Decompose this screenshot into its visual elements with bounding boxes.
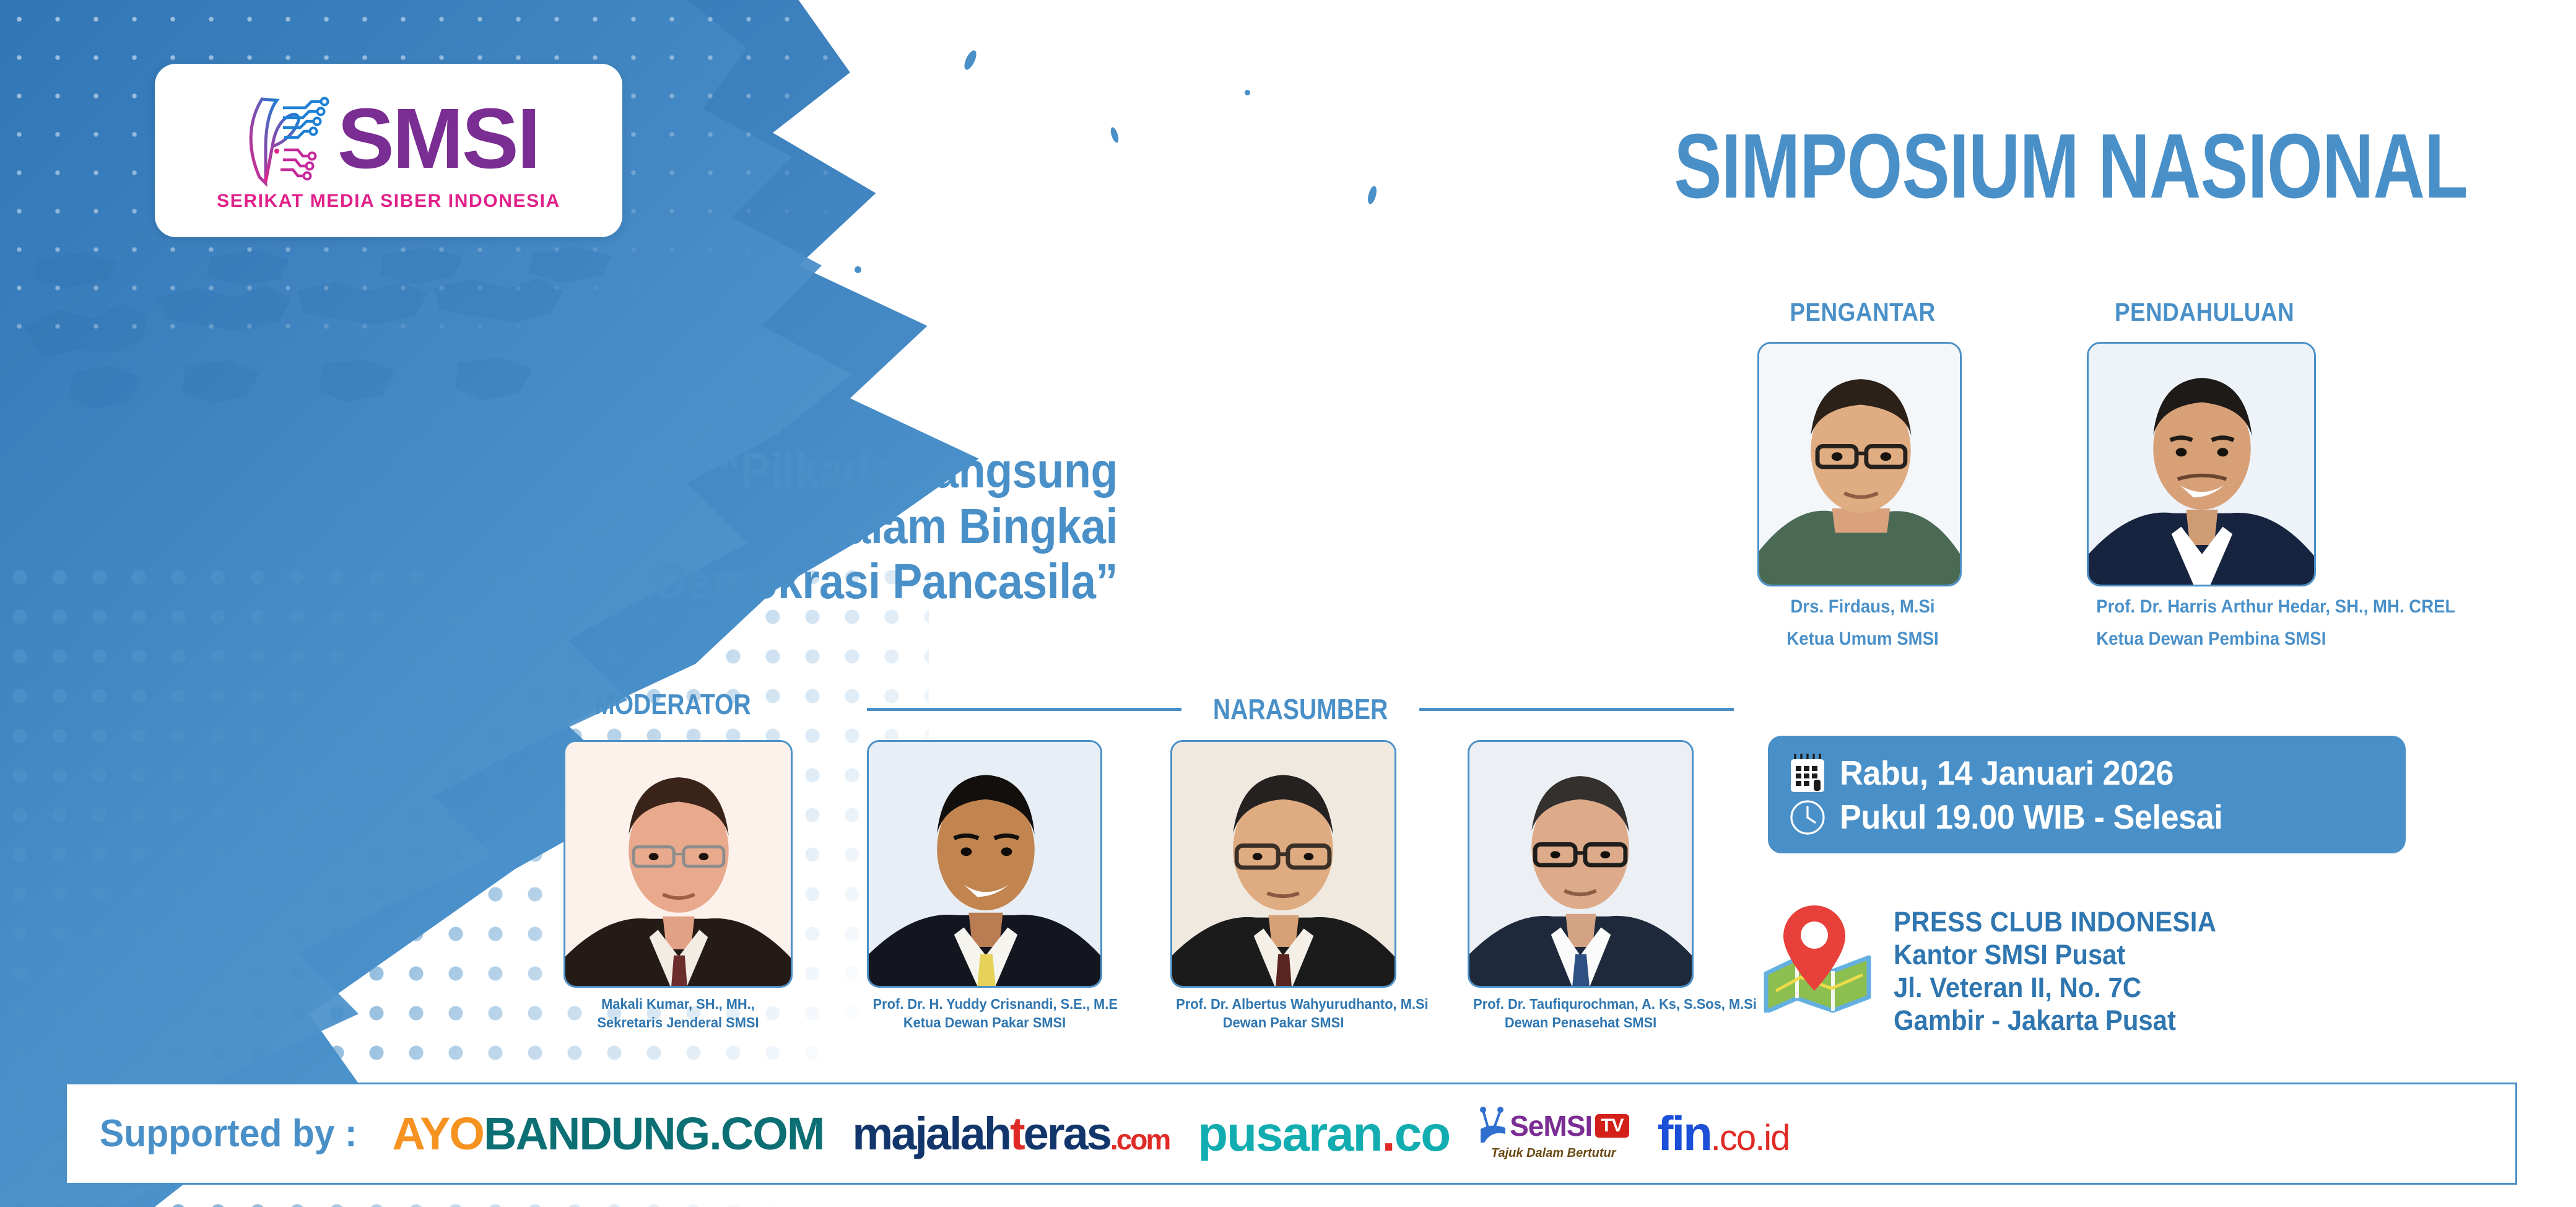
ayo-part-1: AYO xyxy=(392,1107,484,1160)
schedule-box: Rabu, 14 Januari 2026 Pukul 19.00 WIB - … xyxy=(1768,736,2406,853)
speaker-name-pengantar: Drs. Firdaus, M.Si xyxy=(1766,595,1960,619)
supported-by-label: Supported by : xyxy=(100,1112,357,1156)
speaker-narasumber-1: Prof. Dr. H. Yuddy Crisnandi, S.E., M.E … xyxy=(867,740,1102,1032)
sponsor-logo-majalahteras[interactable]: majalahteras.com xyxy=(852,1107,1169,1160)
section-label-narasumber-group: NARASUMBER xyxy=(867,692,1734,726)
sponsor-logo-ayobandung[interactable]: AYOBANDUNG.COM xyxy=(392,1107,824,1160)
event-poster: SMSI SERIKAT MEDIA SIBER INDONESIA SIMPO… xyxy=(0,0,2576,1207)
speaker-title-1: Ketua Dewan Pakar SMSI xyxy=(873,1014,1097,1032)
smsi-logo-card: SMSI SERIKAT MEDIA SIBER INDONESIA xyxy=(155,64,622,237)
rule-left xyxy=(867,708,1181,711)
section-label-narasumber: NARASUMBER xyxy=(1213,692,1388,726)
speaker-name-0: Makali Kumar, SH., MH., xyxy=(569,995,787,1014)
speaker-pendahuluan: PENDAHULUAN Prof. Dr. Harris Arthur Heda… xyxy=(2087,297,2322,651)
speaker-name-1: Prof. Dr. H. Yuddy Crisnandi, S.E., M.E xyxy=(873,995,1097,1014)
speaker-name-3: Prof. Dr. Taufiqurochman, A. Ks, S.Sos, … xyxy=(1473,995,1688,1014)
speaker-title-0: Sekretaris Jenderal SMSI xyxy=(569,1014,787,1032)
logo-wordmark: SMSI xyxy=(337,100,539,178)
fin-part-1: fin xyxy=(1658,1105,1711,1162)
theme-line-3: Demokrasi Pancasila” xyxy=(505,554,1118,609)
speaker-photo-moderator xyxy=(563,740,793,988)
pusaran-dot: . xyxy=(1382,1105,1395,1162)
speaker-title-3: Dewan Penasehat SMSI xyxy=(1473,1014,1688,1032)
tv-badge: TV xyxy=(1595,1114,1629,1138)
schedule-time-row: Pukul 19.00 WIB - Selesai xyxy=(1789,797,2385,837)
teras-part-4: .com xyxy=(1110,1123,1169,1156)
map-pin-icon xyxy=(1759,898,1876,1013)
speaker-title-pengantar: Ketua Umum SMSI xyxy=(1766,627,1960,651)
smsi-pen-circuit-icon xyxy=(238,89,331,188)
sponsor-logo-semsitv[interactable]: SeMSI TV Tajuk Dalam Bertutur xyxy=(1478,1107,1629,1161)
logo-subtitle: SERIKAT MEDIA SIBER INDONESIA xyxy=(217,191,560,212)
paint-fleck xyxy=(855,266,861,273)
teras-part-3: eras xyxy=(1024,1107,1110,1160)
venue-line-2: Kantor SMSI Pusat xyxy=(1894,938,2216,971)
calendar-icon xyxy=(1789,752,1826,793)
tv-antenna-icon xyxy=(1478,1107,1507,1145)
venue-line-4: Gambir - Jakarta Pusat xyxy=(1894,1004,2216,1037)
speaker-photo-narasumber-3 xyxy=(1468,740,1694,988)
semsitv-tagline: Tajuk Dalam Bertutur xyxy=(1491,1146,1616,1161)
fin-part-2: .co.id xyxy=(1711,1117,1790,1159)
sponsor-logo-pusaran[interactable]: pusaran.co xyxy=(1198,1105,1450,1162)
speaker-photo-pendahuluan xyxy=(2087,342,2316,586)
teras-part-2: t xyxy=(1010,1107,1024,1160)
section-label-moderator: MODERATOR xyxy=(594,687,751,721)
paint-fleck xyxy=(1245,90,1250,95)
speaker-name-2: Prof. Dr. Albertus Wahyurudhanto, M.Si xyxy=(1176,995,1391,1014)
paint-fleck xyxy=(1366,185,1378,205)
venue-line-3: Jl. Veteran II, No. 7C xyxy=(1894,971,2216,1004)
theme-line-2: dalam Bingkai xyxy=(505,499,1118,554)
schedule-date: Rabu, 14 Januari 2026 xyxy=(1840,753,2173,793)
speaker-narasumber-2: Prof. Dr. Albertus Wahyurudhanto, M.Si D… xyxy=(1170,740,1396,1032)
role-label-pengantar: PENGANTAR xyxy=(1770,297,1955,327)
paint-fleck xyxy=(962,49,978,72)
venue-block: PRESS CLUB INDONESIA Kantor SMSI Pusat J… xyxy=(1759,898,2241,1037)
sponsor-bar: Supported by : AYOBANDUNG.COM majalahter… xyxy=(65,1083,2517,1185)
schedule-date-row: Rabu, 14 Januari 2026 xyxy=(1789,752,2385,793)
ayo-part-2: BANDUNG.COM xyxy=(484,1107,824,1160)
speaker-name-pendahuluan: Prof. Dr. Harris Arthur Hedar, SH., MH. … xyxy=(2096,595,2313,619)
speaker-photo-narasumber-2 xyxy=(1170,740,1396,988)
speaker-pengantar: PENGANTAR Drs. Firdaus, M.Si Ketua Umum … xyxy=(1757,297,1968,651)
teras-part-1: majalah xyxy=(852,1107,1010,1160)
speaker-narasumber-3: Prof. Dr. Taufiqurochman, A. Ks, S.Sos, … xyxy=(1468,740,1694,1032)
paint-fleck xyxy=(1109,126,1120,144)
clock-icon xyxy=(1789,798,1826,836)
speaker-moderator: Makali Kumar, SH., MH., Sekretaris Jende… xyxy=(563,740,793,1032)
theme-line-1: “Pilkada Langsung xyxy=(505,443,1118,499)
speaker-photo-pengantar xyxy=(1757,342,1962,586)
speaker-photo-narasumber-1 xyxy=(867,740,1102,988)
pusaran-part-3: co xyxy=(1395,1105,1450,1162)
speaker-title-2: Dewan Pakar SMSI xyxy=(1176,1014,1391,1032)
schedule-time: Pukul 19.00 WIB - Selesai xyxy=(1840,797,2222,837)
venue-line-1: PRESS CLUB INDONESIA xyxy=(1894,905,2216,938)
sponsor-logo-fin[interactable]: fin.co.id xyxy=(1658,1105,1790,1162)
role-label-pendahuluan: PENDAHULUAN xyxy=(2101,297,2308,327)
pusaran-part-1: pusaran xyxy=(1198,1105,1382,1162)
rule-right xyxy=(1419,708,1734,711)
page-title: SIMPOSIUM NASIONAL xyxy=(1674,121,2468,212)
event-theme: “Pilkada Langsung dalam Bingkai Demokras… xyxy=(437,443,1118,609)
speaker-title-pendahuluan: Ketua Dewan Pembina SMSI xyxy=(2096,627,2313,651)
semsi-wordmark: SeMSI xyxy=(1510,1109,1592,1143)
